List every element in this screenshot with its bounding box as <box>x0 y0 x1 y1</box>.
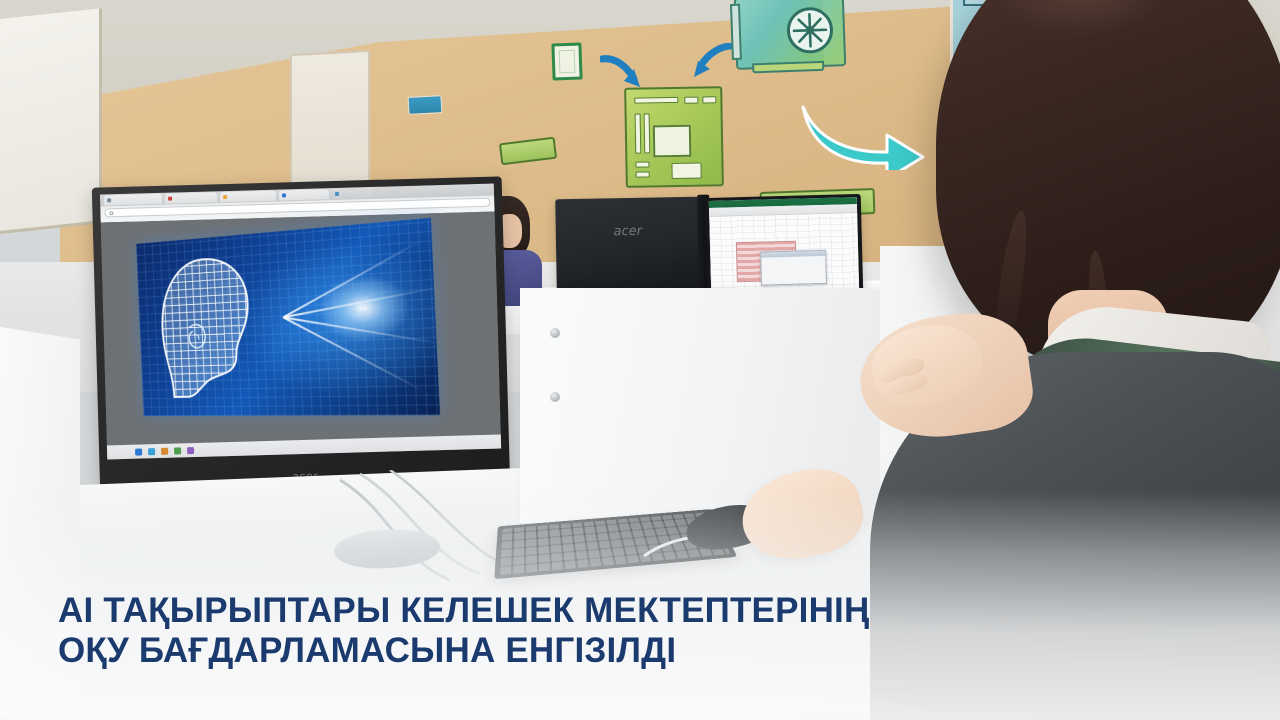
gpu-fan-icon <box>786 7 834 55</box>
mobo-chipset <box>671 163 701 180</box>
spreadsheet-dialog <box>760 250 827 286</box>
browser-tab[interactable] <box>165 192 217 203</box>
mobo-port-1 <box>635 161 649 167</box>
ai-illustration <box>136 218 440 416</box>
mobo-slot-3 <box>702 96 716 103</box>
mobo-ram-slot-2 <box>644 113 651 153</box>
browser-tab[interactable] <box>279 189 329 200</box>
browser-tab-inactive[interactable] <box>332 188 372 199</box>
browser-tab[interactable] <box>104 194 162 206</box>
taskbar-icon[interactable] <box>148 448 155 455</box>
tab-favicon-icon <box>107 198 111 202</box>
spreadsheet-screen <box>709 197 859 294</box>
tab-favicon-icon <box>168 197 172 201</box>
whiteboard <box>0 8 102 235</box>
headline-line-2: ОҚУ БАҒДАРЛАМАСЫНА ЕНГІЗІЛДІ <box>58 631 1058 672</box>
back-monitor: acer <box>555 197 701 291</box>
mobo-slot-1 <box>634 97 678 104</box>
main-monitor-screen[interactable] <box>100 184 501 460</box>
dialog-titlebar <box>761 251 825 258</box>
mobo-cpu-socket <box>653 125 692 158</box>
headline-line-1: AI ТАҚЫРЫПТАРЫ КЕЛЕШЕК МЕКТЕПТЕРІНІҢ <box>58 591 869 630</box>
browser-page-content <box>101 212 501 460</box>
green-framed-poster <box>551 42 582 80</box>
mobo-port-2 <box>636 171 650 177</box>
back-monitor-brand-logo: acer <box>613 224 642 239</box>
fan-blades-icon <box>789 10 830 51</box>
taskbar-icon[interactable] <box>187 447 194 454</box>
main-monitor: acer <box>92 176 511 499</box>
taskbar-icon[interactable] <box>174 447 181 454</box>
gpu-bracket <box>730 4 742 60</box>
wireframe-head-icon <box>151 251 266 401</box>
blue-wall-sign <box>408 95 443 115</box>
mobo-ram-slot-1 <box>635 114 642 154</box>
divider-screw <box>550 392 560 402</box>
browser-tab[interactable] <box>220 191 276 203</box>
arrow-decal-blue-small-2 <box>688 43 736 85</box>
reload-icon[interactable] <box>109 211 113 215</box>
graphics-card-decal <box>734 0 846 70</box>
right-monitor-spreadsheet <box>705 194 864 298</box>
tab-favicon-icon <box>282 193 286 197</box>
motherboard-decal <box>624 86 724 188</box>
divider-screw <box>550 328 560 338</box>
taskbar-icon[interactable] <box>161 447 168 454</box>
tab-favicon-icon <box>335 192 339 196</box>
taskbar-icon[interactable] <box>135 448 142 455</box>
headline-overlay: AI ТАҚЫРЫПТАРЫ КЕЛЕШЕК МЕКТЕПТЕРІНІҢ ОҚУ… <box>58 591 1058 672</box>
screenshot-root: acer <box>0 0 1280 720</box>
mobo-slot-2 <box>684 97 698 104</box>
tab-favicon-icon <box>223 195 227 199</box>
